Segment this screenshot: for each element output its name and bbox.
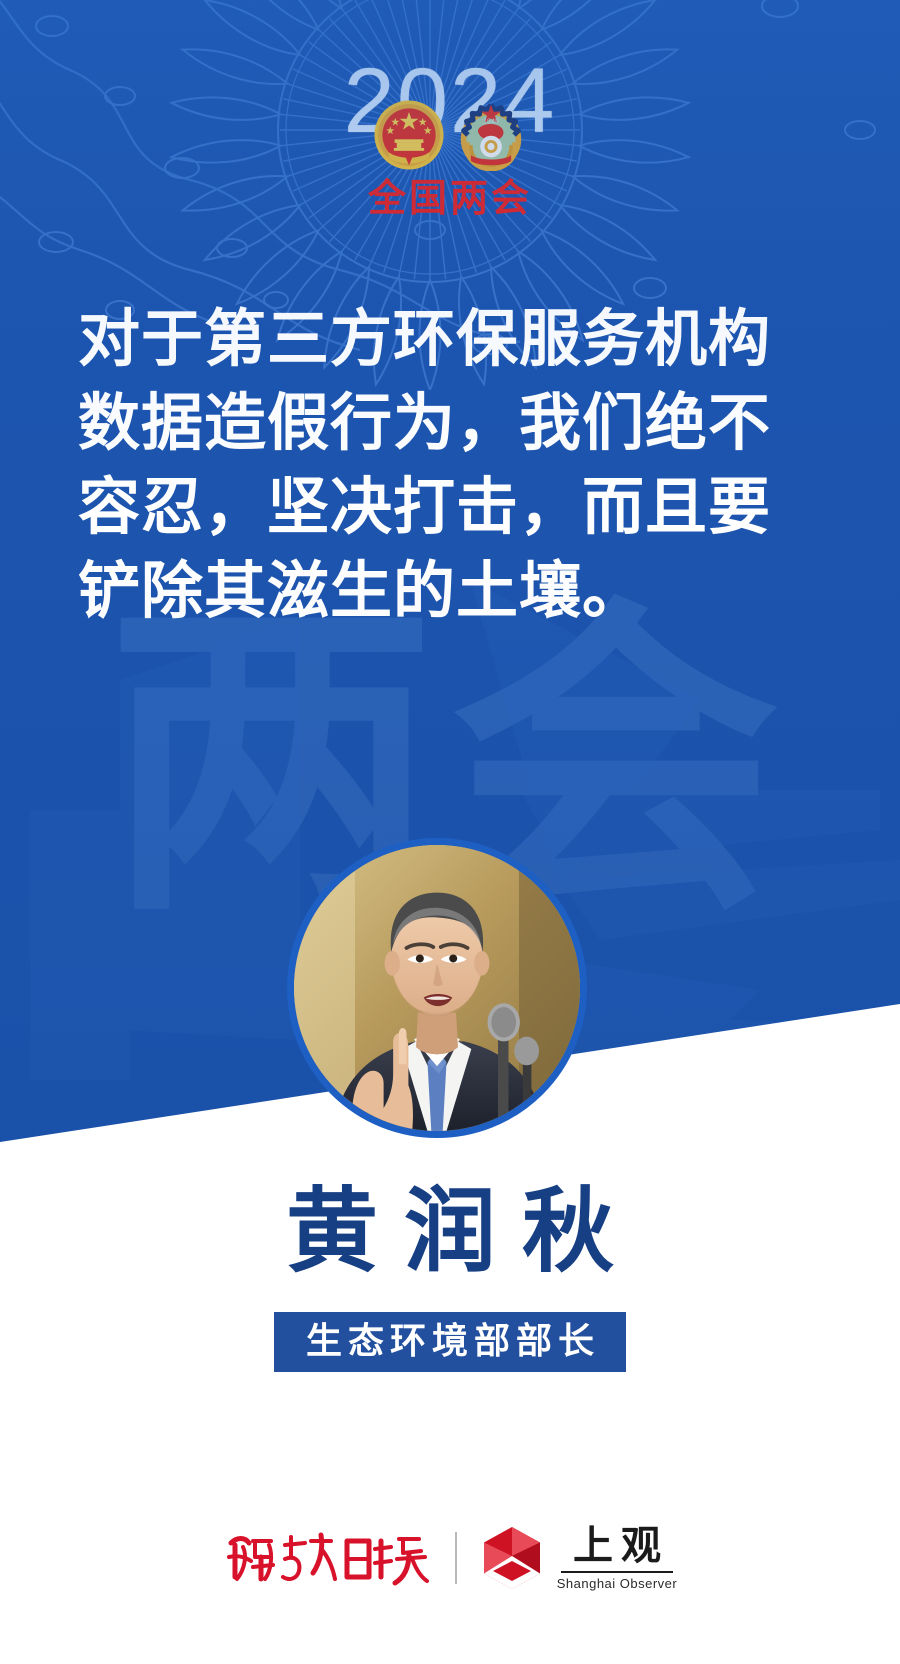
quote-text: 对于第三方环保服务机构 数据造假行为，我们绝不 容忍，坚决打击，而且要 铲除其滋…: [78, 298, 838, 634]
event-label: 全国两会: [0, 179, 900, 221]
shanghai-observer-text: 上观 Shanghai Observer: [557, 1524, 678, 1591]
masthead: 2024: [0, 58, 900, 221]
brand-name-en: Shanghai Observer: [557, 1576, 678, 1591]
footer-divider: [455, 1532, 457, 1584]
shanghai-observer-logo: 上观 Shanghai Observer: [479, 1524, 678, 1591]
quote-line-2: 数据造假行为，我们绝不: [78, 382, 838, 466]
jiefang-daily-logo-icon: [223, 1527, 433, 1589]
portrait-illustration: [294, 845, 580, 1131]
poster-root: 两会 2024: [0, 0, 900, 1664]
brand-name-cn: 上观: [565, 1524, 669, 1568]
quote-line-4: 铲除其滋生的土壤。: [78, 550, 838, 634]
speaker-portrait: [287, 838, 587, 1138]
quote-line-1: 对于第三方环保服务机构: [78, 298, 838, 382]
speaker-title-row: 生态环境部部长: [0, 1312, 900, 1372]
quote-line-3: 容忍，坚决打击，而且要: [78, 466, 838, 550]
speaker-title-badge: 生态环境部部长: [274, 1312, 626, 1372]
national-emblem-prc-icon: [373, 99, 445, 171]
speaker-name: 黄润秋: [0, 1184, 900, 1281]
footer-logos: 上观 Shanghai Observer: [0, 1524, 900, 1591]
cppcc-emblem-icon: 1949: [455, 99, 527, 171]
emblem-group: 1949: [0, 99, 900, 175]
hexagon-mark-icon: [479, 1525, 545, 1591]
brand-underline: [561, 1571, 673, 1573]
